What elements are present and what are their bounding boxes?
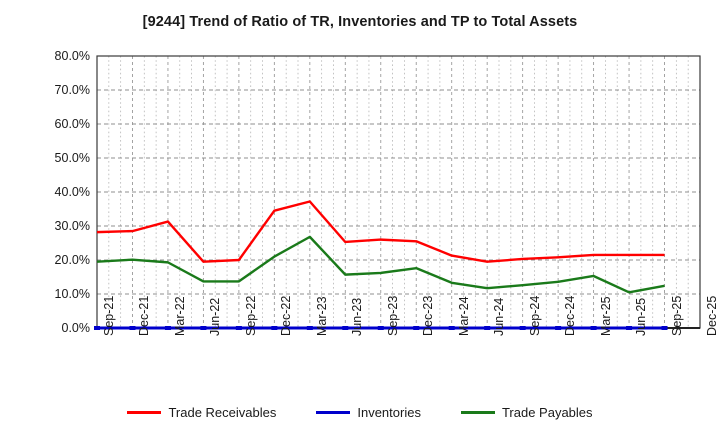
plot-area [0,0,720,440]
x-axis-tick-label: Sep-21 [102,296,116,336]
legend-item[interactable]: Trade Receivables [127,405,276,420]
x-axis-tick-label: Sep-23 [386,296,400,336]
x-axis-tick-label: Jun-25 [634,298,648,336]
x-axis-tick-label: Mar-25 [599,296,613,336]
x-axis-tick-label: Sep-22 [244,296,258,336]
y-axis-tick-label: 70.0% [28,83,90,97]
x-axis-tick-label: Jun-23 [350,298,364,336]
chart-container: [9244] Trend of Ratio of TR, Inventories… [0,0,720,440]
legend-item-label: Inventories [357,405,421,420]
x-axis-tick-label: Sep-24 [528,296,542,336]
y-axis-tick-label: 60.0% [28,117,90,131]
legend-color-swatch-icon [127,411,161,414]
legend-item-label: Trade Receivables [168,405,276,420]
y-axis-tick-label: 40.0% [28,185,90,199]
x-axis-tick-label: Mar-22 [173,296,187,336]
x-axis-tick-label: Dec-24 [563,296,577,336]
y-axis-tick-label: 20.0% [28,253,90,267]
x-axis-tick-label: Dec-25 [705,296,719,336]
x-axis-tick-label: Dec-22 [279,296,293,336]
x-axis-tick-label: Mar-23 [315,296,329,336]
y-axis-tick-label: 80.0% [28,49,90,63]
y-axis-tick-label: 50.0% [28,151,90,165]
x-axis-tick-label: Dec-21 [137,296,151,336]
series-line-trade-payables [97,237,665,292]
legend-item[interactable]: Trade Payables [461,405,593,420]
chart-legend: Trade ReceivablesInventoriesTrade Payabl… [0,405,720,420]
y-axis-tick-label: 30.0% [28,219,90,233]
legend-color-swatch-icon [461,411,495,414]
x-axis-tick-label: Sep-25 [670,296,684,336]
y-axis-tick-label: 10.0% [28,287,90,301]
x-axis-tick-label: Jun-24 [492,298,506,336]
legend-item-label: Trade Payables [502,405,593,420]
legend-item[interactable]: Inventories [316,405,421,420]
x-axis-tick-label: Jun-22 [208,298,222,336]
y-axis-tick-label: 0.0% [28,321,90,335]
legend-color-swatch-icon [316,411,350,414]
x-axis-tick-label: Mar-24 [457,296,471,336]
x-axis-tick-label: Dec-23 [421,296,435,336]
